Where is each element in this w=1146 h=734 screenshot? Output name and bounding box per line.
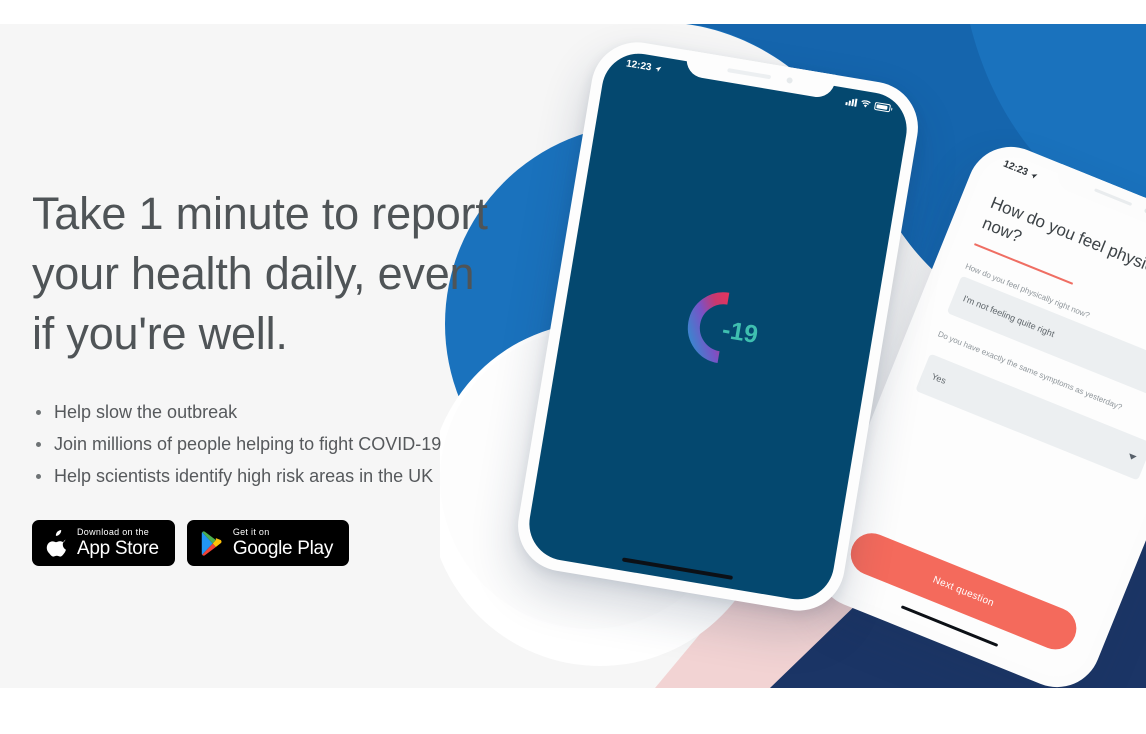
front-camera — [786, 76, 793, 83]
svg-text:-19: -19 — [720, 316, 760, 349]
status-bar-time-group: 12:23 — [625, 58, 662, 75]
cellular-signal-icon — [845, 97, 857, 107]
speaker-grille — [1093, 188, 1131, 206]
benefits-list: Help slow the outbreak Join millions of … — [32, 396, 552, 492]
google-play-triangle-icon — [201, 531, 224, 556]
status-bar-icons — [845, 97, 891, 112]
wifi-icon — [860, 99, 871, 109]
list-item: Help scientists identify high risk areas… — [32, 460, 552, 492]
c19-logo-icon: -19 — [668, 280, 768, 373]
google-play-badge-text: Get it on Google Play — [233, 527, 333, 559]
location-arrow-icon — [654, 65, 662, 73]
page-title: Take 1 minute to report your health dail… — [32, 184, 552, 364]
app-store-badge-caption: Download on the — [77, 527, 159, 538]
google-play-badge[interactable]: Get it on Google Play — [187, 520, 349, 566]
store-badges: Download on the App Store Get it on Goog… — [32, 520, 552, 566]
symptoms-select-value: Yes — [930, 371, 947, 386]
browser-top-strip — [0, 0, 1146, 24]
hero-section: 12:23 — [0, 24, 1146, 688]
battery-full-icon — [874, 101, 891, 112]
hero-copy: Take 1 minute to report your health dail… — [32, 184, 552, 566]
list-item: Help slow the outbreak — [32, 396, 552, 428]
app-store-badge-title: App Store — [77, 538, 159, 559]
c19-logo: -19 — [668, 280, 768, 373]
speaker-grille — [727, 68, 771, 79]
chevron-down-icon — [1128, 453, 1137, 461]
google-play-badge-caption: Get it on — [233, 527, 333, 538]
status-time: 12:23 — [1002, 159, 1030, 179]
google-play-badge-title: Google Play — [233, 538, 333, 559]
page-root: 12:23 — [0, 0, 1146, 734]
location-arrow-icon — [1029, 171, 1038, 180]
apple-logo-icon — [46, 530, 68, 557]
app-store-badge-text: Download on the App Store — [77, 527, 159, 559]
status-time: 12:23 — [625, 58, 652, 73]
app-store-badge[interactable]: Download on the App Store — [32, 520, 175, 566]
list-item: Join millions of people helping to fight… — [32, 428, 552, 460]
